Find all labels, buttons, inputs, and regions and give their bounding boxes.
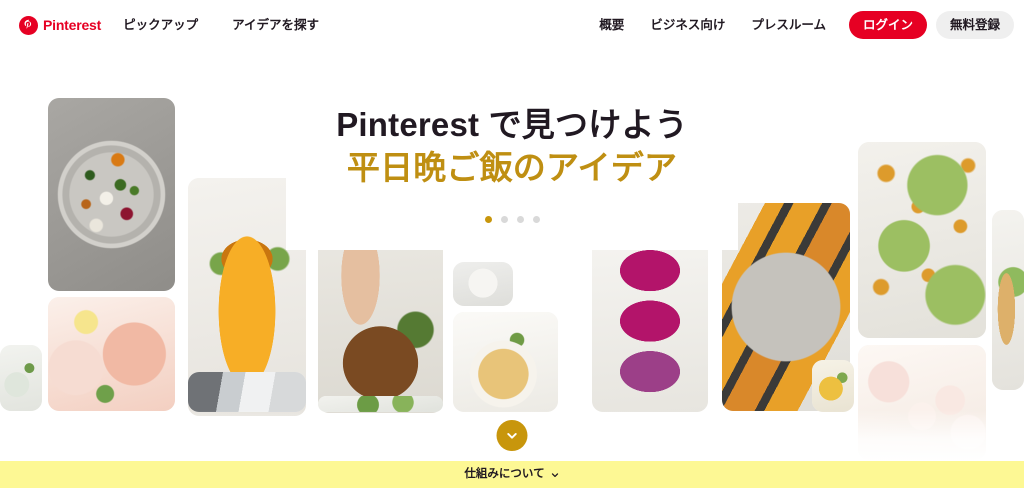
carousel-dots <box>0 216 1024 223</box>
chevron-down-icon <box>505 428 520 443</box>
collage-tile-light-plate-crop[interactable] <box>453 262 513 306</box>
how-it-works-label-wrap: 仕組みについて <box>464 469 559 481</box>
collage-tile-image <box>992 210 1024 390</box>
carousel-dot-3[interactable] <box>517 216 524 223</box>
nav-item-explore-ideas[interactable]: アイデアを探す <box>221 12 330 39</box>
collage-tile-toast-crop-right[interactable] <box>992 210 1024 390</box>
collage-tile-chickpea-flatbreads[interactable] <box>858 142 986 338</box>
header-left-nav: Pinterest ピックアップ アイデアを探す <box>14 12 330 39</box>
carousel-dot-1[interactable] <box>485 216 492 223</box>
collage-tile-image <box>0 345 42 411</box>
nav-item-business[interactable]: ビジネス向け <box>639 12 736 39</box>
pinterest-landing-page: Pinterest ピックアップ アイデアを探す 概要 ビジネス向け プレスルー… <box>0 0 1024 492</box>
collage-tile-kitchen-counter-crop[interactable] <box>188 372 306 412</box>
collage-tile-image <box>858 345 986 460</box>
collage-tile-pastel-balloons-party[interactable] <box>858 345 986 460</box>
collage-tile-image <box>453 262 513 306</box>
signup-button[interactable]: 無料登録 <box>936 11 1014 40</box>
pinterest-logo-link[interactable]: Pinterest <box>14 13 106 38</box>
collage-tile-image <box>318 396 443 412</box>
collage-tile-image <box>48 98 175 291</box>
collage-tile-mint-garnish-crop[interactable] <box>0 345 42 411</box>
collage-tile-image <box>188 372 306 412</box>
collage-tile-image <box>812 360 854 412</box>
brand-wordmark: Pinterest <box>43 18 101 32</box>
login-button[interactable]: ログイン <box>849 11 927 40</box>
scroll-down-button[interactable] <box>497 420 528 451</box>
carousel-dot-4[interactable] <box>533 216 540 223</box>
collage-tile-hummus-bowl-spoon[interactable] <box>453 312 558 412</box>
page-bottom-edge <box>0 488 1024 492</box>
pinterest-p-icon <box>19 16 38 35</box>
how-it-works-bar[interactable]: 仕組みについて <box>0 461 1024 488</box>
collage-tile-yellow-dish-crop[interactable] <box>812 360 854 412</box>
nav-item-pickup[interactable]: ピックアップ <box>112 12 209 39</box>
collage-tile-image <box>858 142 986 338</box>
carousel-dot-2[interactable] <box>501 216 508 223</box>
site-header: Pinterest ピックアップ アイデアを探す 概要 ビジネス向け プレスルー… <box>0 0 1024 50</box>
header-right-nav: 概要 ビジネス向け プレスルーム ログイン 無料登録 <box>588 11 1014 40</box>
collage-tile-image <box>453 312 558 412</box>
how-it-works-label: 仕組みについて <box>464 469 544 481</box>
collage-tile-pink-lemonade-drink[interactable] <box>48 297 175 411</box>
nav-item-pressroom[interactable]: プレスルーム <box>740 12 837 39</box>
nav-item-about[interactable]: 概要 <box>588 12 635 39</box>
collage-tile-image <box>48 297 175 411</box>
collage-tile-greens-crop[interactable] <box>318 396 443 412</box>
collage-tile-beet-feta-salad-plate[interactable] <box>48 98 175 291</box>
chevron-down-icon <box>550 470 560 480</box>
